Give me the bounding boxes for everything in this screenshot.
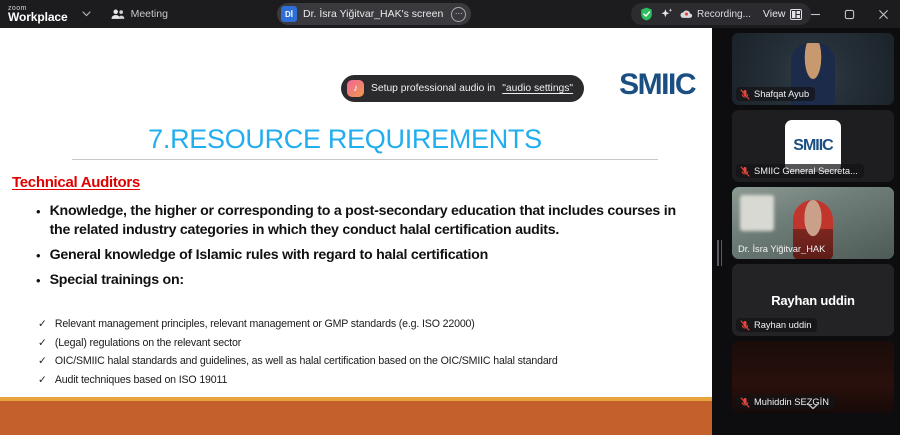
participant-name-badge: SMIIC General Secreta... bbox=[736, 164, 864, 178]
participant-name-badge: Dr. İsra Yiğitvar_HAK bbox=[736, 242, 831, 255]
check-text: Relevant management principles, relevant… bbox=[55, 317, 475, 332]
check-item: ✓ Relevant management principles, releva… bbox=[38, 317, 698, 332]
participant-name: Rayhan uddin bbox=[754, 320, 811, 330]
mic-off-icon bbox=[740, 320, 750, 331]
slide-footer-bar bbox=[0, 401, 712, 435]
cloud-recording-icon bbox=[680, 9, 693, 19]
bullet-item: • General knowledge of Islamic rules wit… bbox=[36, 246, 686, 265]
bullet-glyph: • bbox=[36, 202, 41, 221]
participant-strip: Shafqat Ayub SMIIC SMIIC General Secreta… bbox=[726, 28, 900, 435]
check-text: (Legal) regulations on the relevant sect… bbox=[55, 336, 241, 351]
window-controls bbox=[798, 0, 900, 28]
participant-name: Shafqat Ayub bbox=[754, 89, 809, 99]
audio-setup-toast[interactable]: ♪ Setup professional audio in "audio set… bbox=[341, 75, 584, 102]
meeting-tab[interactable]: Meeting bbox=[111, 8, 168, 20]
bullet-list: • Knowledge, the higher or corresponding… bbox=[36, 202, 686, 296]
check-item: ✓ (Legal) regulations on the relevant se… bbox=[38, 336, 698, 351]
slide-subheading: Technical Auditors bbox=[12, 174, 140, 191]
panel-resize-handle[interactable] bbox=[716, 239, 723, 267]
mic-off-icon bbox=[740, 166, 750, 177]
check-item: ✓ OIC/SMIIC halal standards and guidelin… bbox=[38, 354, 698, 369]
toast-text: Setup professional audio in bbox=[371, 83, 495, 94]
close-button[interactable] bbox=[866, 0, 900, 28]
bullet-text: General knowledge of Islamic rules with … bbox=[50, 246, 488, 265]
bullet-item: • Knowledge, the higher or corresponding… bbox=[36, 202, 686, 240]
mic-off-icon bbox=[740, 89, 750, 100]
scroll-down-chevron-icon[interactable] bbox=[726, 401, 900, 413]
people-icon bbox=[111, 8, 125, 20]
bullet-glyph: • bbox=[36, 271, 41, 290]
participant-name: Dr. İsra Yiğitvar_HAK bbox=[738, 244, 825, 254]
zoom-meeting-window: zoom Workplace Meeting Dİ Dr. İsra Yiğit… bbox=[0, 0, 900, 435]
title-bar: zoom Workplace Meeting Dİ Dr. İsra Yiğit… bbox=[0, 0, 900, 28]
music-note-icon: ♪ bbox=[347, 80, 364, 97]
audio-settings-link[interactable]: "audio settings" bbox=[502, 83, 573, 94]
shared-screen-area: SMIIC 7.RESOURCE REQUIREMENTS Technical … bbox=[0, 28, 712, 435]
bullet-item: • Special trainings on: bbox=[36, 271, 686, 290]
check-icon: ✓ bbox=[38, 317, 47, 332]
screen-share-indicator[interactable]: Dİ Dr. İsra Yiğitvar_HAK's screen ⋯ bbox=[277, 3, 471, 25]
participant-name-badge: Rayhan uddin bbox=[736, 318, 817, 332]
workplace-label: Workplace bbox=[8, 11, 68, 23]
recording-indicator[interactable]: Recording... bbox=[680, 9, 751, 20]
participant-name: SMIIC General Secreta... bbox=[754, 166, 858, 176]
avatar: Dİ bbox=[281, 6, 297, 22]
participant-display-name: Rayhan uddin bbox=[771, 293, 855, 308]
check-text: Audit techniques based on ISO 19011 bbox=[55, 373, 227, 388]
slide-title: 7.RESOURCE REQUIREMENTS bbox=[0, 124, 690, 155]
participant-tile-shafqat-ayub[interactable]: Shafqat Ayub bbox=[732, 33, 894, 105]
title-divider bbox=[72, 159, 658, 160]
minimize-button[interactable] bbox=[798, 0, 832, 28]
participant-tile-isra-yigitvar[interactable]: Dr. İsra Yiğitvar_HAK bbox=[732, 187, 894, 259]
check-icon: ✓ bbox=[38, 354, 47, 369]
chevron-down-icon[interactable] bbox=[82, 11, 91, 17]
view-button[interactable]: View bbox=[763, 8, 802, 20]
maximize-button[interactable] bbox=[832, 0, 866, 28]
bullet-glyph: • bbox=[36, 246, 41, 265]
view-label: View bbox=[763, 8, 786, 20]
smiic-logo: SMIIC bbox=[619, 70, 695, 100]
check-item: ✓ Audit techniques based on ISO 19011 bbox=[38, 373, 698, 388]
bullet-text: Knowledge, the higher or corresponding t… bbox=[50, 202, 686, 240]
recording-label: Recording... bbox=[697, 9, 751, 20]
participant-tile-rayhan-uddin[interactable]: Rayhan uddin Rayhan uddin bbox=[732, 264, 894, 336]
more-options-icon[interactable]: ⋯ bbox=[451, 7, 466, 22]
participant-name-badge: Shafqat Ayub bbox=[736, 87, 815, 101]
status-cluster: Recording... View bbox=[631, 3, 811, 25]
meeting-label: Meeting bbox=[131, 8, 168, 20]
ai-sparkle-icon[interactable] bbox=[660, 8, 673, 21]
check-icon: ✓ bbox=[38, 336, 47, 351]
shield-check-icon[interactable] bbox=[640, 7, 653, 21]
check-text: OIC/SMIIC halal standards and guidelines… bbox=[55, 354, 558, 369]
share-owner-label: Dr. İsra Yiğitvar_HAK's screen bbox=[303, 8, 443, 20]
zoom-workplace-logo[interactable]: zoom Workplace bbox=[8, 5, 68, 23]
bullet-text: Special trainings on: bbox=[50, 271, 184, 290]
participant-tile-smiic-general-secretariat[interactable]: SMIIC SMIIC General Secreta... bbox=[732, 110, 894, 182]
check-list: ✓ Relevant management principles, releva… bbox=[38, 317, 698, 391]
check-icon: ✓ bbox=[38, 373, 47, 388]
